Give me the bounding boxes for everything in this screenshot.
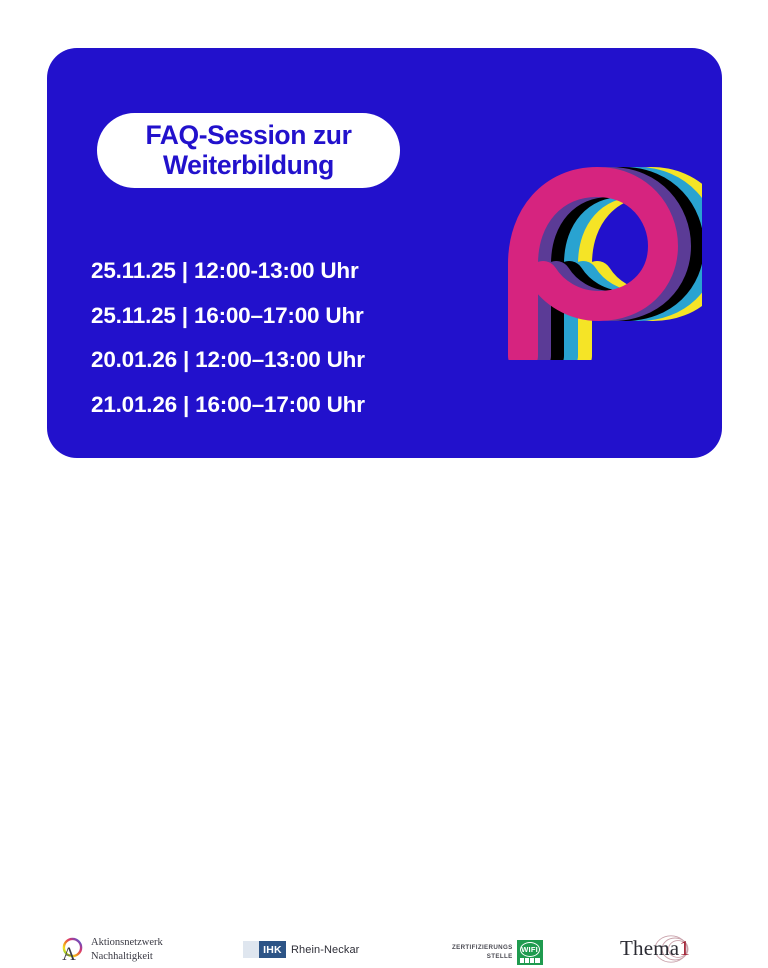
thema1-word: Thema xyxy=(620,936,679,960)
session-list: 25.11.25 | 12:00-13:00 Uhr 25.11.25 | 16… xyxy=(91,260,491,416)
wifi-badge-icon: WIFI xyxy=(517,940,543,965)
main-card: FAQ-Session zur Weiterbildung 25.11.25 |… xyxy=(47,48,722,458)
list-item: 25.11.25 | 16:00–17:00 Uhr xyxy=(91,305,491,328)
partner-logo-strip: A Aktionsnetzwerk Nachhaltigkeit IHK Rhe… xyxy=(0,462,768,512)
logo-thema1: Thema1 xyxy=(620,936,690,964)
logo-zertifizierungsstelle: ZERTIFIZIERUNGS STELLE WIFI xyxy=(452,940,543,965)
zertifizierungsstelle-label: ZERTIFIZIERUNGS STELLE xyxy=(452,944,513,962)
logo-aktionsnetzwerk: A Aktionsnetzwerk Nachhaltigkeit xyxy=(58,936,163,963)
title-pill: FAQ-Session zur Weiterbildung xyxy=(97,113,400,188)
thema1-wordmark: Thema1 xyxy=(620,936,690,960)
thema1-number: 1 xyxy=(679,936,690,960)
list-item: 25.11.25 | 12:00-13:00 Uhr xyxy=(91,260,491,283)
ihk-abbreviation: IHK xyxy=(259,941,286,958)
rainbow-circle-a-icon: A xyxy=(58,936,85,963)
wifi-bars xyxy=(520,958,540,963)
logo-aktionsnetzwerk-label: Aktionsnetzwerk Nachhaltigkeit xyxy=(91,936,163,962)
page-title: FAQ-Session zur Weiterbildung xyxy=(145,121,351,181)
logo-ihk-rhein-neckar: IHK Rhein-Neckar xyxy=(243,941,359,958)
list-item: 21.01.26 | 16:00–17:00 Uhr xyxy=(91,394,491,417)
list-item: 20.01.26 | 12:00–13:00 Uhr xyxy=(91,349,491,372)
ihk-swatch xyxy=(243,941,259,958)
ihk-region-label: Rhein-Neckar xyxy=(291,944,359,956)
poster-canvas: FAQ-Session zur Weiterbildung 25.11.25 |… xyxy=(0,0,768,512)
ribbon-p-mark-icon xyxy=(487,160,702,360)
svg-text:A: A xyxy=(62,944,76,963)
wifi-badge-label: WIFI xyxy=(517,945,543,954)
